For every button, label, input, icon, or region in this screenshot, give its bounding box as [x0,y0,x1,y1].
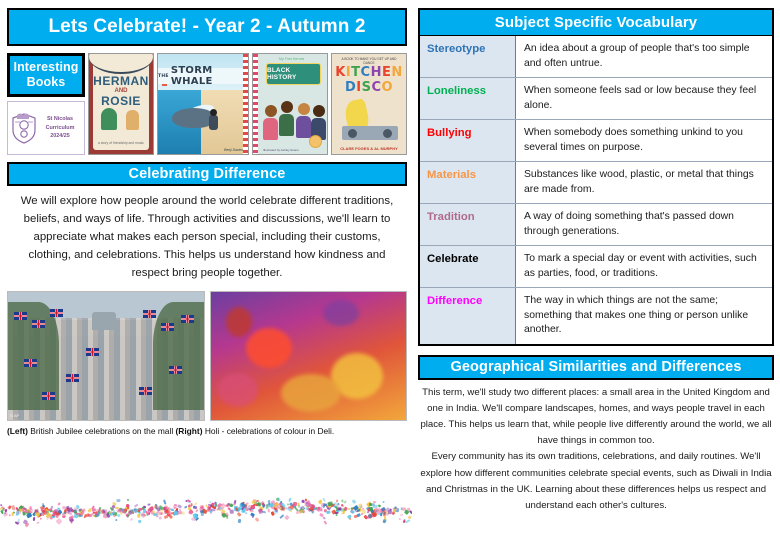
confetti-dot [25,523,30,528]
confetti-dot [384,516,387,521]
confetti-dot [48,508,51,510]
confetti-dot [284,515,290,521]
photo-gallery: © AP [7,291,407,421]
kitchen-disco-tagline: A BOOK TO MAKE YOU GET UP AND DANCE [336,57,402,65]
jubilee-photo-credit: © AP [10,413,19,418]
storm-whale-the: THE [158,74,169,79]
confetti-dot [94,511,97,514]
confetti-dot [40,518,42,520]
confetti-dot [354,515,357,518]
book-cover-herman-and-rosie: gus gordon HERMAN AND ROSIE a story of f… [88,53,154,155]
geography-heading: Geographical Similarities and Difference… [418,355,774,380]
books-label-group: Interesting Books St Nicolas Curriculum [7,53,85,155]
vocabulary-definition: When someone feels sad or low because th… [516,78,772,119]
vocabulary-row: LonelinessWhen someone feels sad or low … [420,77,772,119]
confetti-dot [33,517,35,521]
confetti-dot [201,511,204,516]
logo-line-3: 2024/25 [39,132,81,141]
book-cover-the-storm-whale: THE STORM WHALE Benji Davies [157,53,249,155]
left-column: Lets Celebrate! - Year 2 - Autumn 2 Inte… [7,8,407,436]
confetti-dot [17,521,20,524]
confetti-dot [189,511,192,514]
vocabulary-definition: An idea about a group of people that's t… [516,36,772,77]
storm-whale-title: THE STORM WHALE [158,68,248,84]
kitchen-disco-credits: CLARE FOGES & AL MURPHY [332,146,406,151]
confetti-dot [250,513,255,518]
caption-left-label: (Left) [7,426,28,436]
logo-line-2: Curriculum [39,124,81,133]
boy-illustration [209,115,218,130]
interesting-books-row: Interesting Books St Nicolas Curriculum [7,53,407,155]
caption-right-label: (Right) [176,426,203,436]
geography-paragraph-1: This term, we'll study two different pla… [420,387,771,447]
confetti-dot [265,503,268,508]
holi-festival-photo [210,291,408,421]
storm-whale-author: Benji Davies [224,148,243,152]
vocabulary-term: Materials [420,162,516,203]
confetti-dot [138,520,142,524]
confetti-dot [58,503,61,506]
geography-body: This term, we'll study two different pla… [418,385,774,515]
confetti-dot [26,512,32,518]
confetti-dot [61,513,64,516]
confetti-dot [196,509,199,512]
confetti-dot [255,517,260,522]
storm-whale-main-title: STORM WHALE [171,65,248,87]
school-logo-text: St Nicolas Curriculum 2024/25 [39,115,81,141]
confetti-dot [251,501,256,504]
dj-deck-illustration [342,126,398,140]
vocabulary-definition: A way of doing something that's passed d… [516,204,772,245]
celebrating-difference-heading: Celebrating Difference [7,162,407,186]
vocabulary-term: Stereotype [420,36,516,77]
confetti-dot [48,513,52,517]
vocabulary-row: MaterialsSubstances like wood, plastic, … [420,161,772,203]
confetti-dot [238,519,242,523]
confetti-dot [177,505,182,510]
vocabulary-definition: Substances like wood, plastic, or metal … [516,162,772,203]
confetti-dot [399,518,401,520]
vocabulary-row: DifferenceThe way in which things are no… [420,287,772,344]
black-history-series: My First Heroes [279,57,304,61]
confetti-dot [127,498,130,501]
photo-caption: (Left) British Jubilee celebrations on t… [7,426,407,436]
vocabulary-term: Loneliness [420,78,516,119]
confetti-dot [317,507,322,512]
curriculum-overview-page: Lets Celebrate! - Year 2 - Autumn 2 Inte… [0,0,780,540]
vocabulary-table: Subject Specific Vocabulary StereotypeAn… [418,8,774,346]
vocabulary-definition: When somebody does something unkind to y… [516,120,772,161]
vocabulary-heading: Subject Specific Vocabulary [420,10,772,36]
confetti-dot [116,499,121,502]
vocabulary-rows: StereotypeAn idea about a group of peopl… [420,36,772,344]
confetti-dot [191,517,196,520]
vocabulary-term: Tradition [420,204,516,245]
caption-right-text: Holi - celebrations of colour in Deli. [203,426,335,436]
confetti-dot [408,515,412,519]
vocabulary-term: Difference [420,288,516,344]
children-illustration [261,94,323,140]
herman-subtitle: a story of friendship and music [93,141,149,145]
confetti-dot [85,513,90,517]
confetti-dot [126,513,130,517]
confetti-dot [159,516,163,520]
vocabulary-definition: The way in which things are not the same… [516,288,772,344]
kitchen-disco-title-line2: DISCO [332,80,406,95]
book-cover-kitchen-disco: A BOOK TO MAKE YOU GET UP AND DANCE KITC… [331,53,407,155]
confetti-dot [129,517,133,521]
kitchen-disco-title-line1: KITCHEN [332,65,406,80]
confetti-dot [19,509,22,512]
black-history-credits: Illustrated by Ashley Evans [263,148,323,152]
british-jubilee-photo: © AP [7,291,205,421]
confetti-dot [36,522,40,525]
confetti-decoration [0,494,412,540]
confetti-dot [163,510,165,512]
vocabulary-row: StereotypeAn idea about a group of peopl… [420,36,772,77]
confetti-dot [406,519,411,523]
books-label-line2: Books [27,75,66,90]
confetti-dot [34,508,39,513]
confetti-dot [383,501,385,503]
vocabulary-row: BullyingWhen somebody does something unk… [420,119,772,161]
caption-left-text: British Jubilee celebrations on the mall [28,426,176,436]
vocabulary-term: Bullying [420,120,516,161]
confetti-dot [194,502,197,505]
page-title: Lets Celebrate! - Year 2 - Autumn 2 [7,8,407,46]
school-logo: St Nicolas Curriculum 2024/25 [7,101,85,155]
vocabulary-row: CelebrateTo mark a special day or event … [420,245,772,287]
confetti-dot [323,521,327,525]
vocabulary-term: Celebrate [420,246,516,287]
confetti-dot [409,510,412,514]
confetti-dot [160,512,163,515]
confetti-dot [281,507,286,511]
black-history-title: BLACK HISTORY [267,67,320,81]
vocabulary-definition: To mark a special day or event with acti… [516,246,772,287]
confetti-dot [65,505,69,509]
interesting-books-label: Interesting Books [7,53,85,97]
confetti-dot [251,504,255,508]
book-cover-black-history: My First Heroes BLACK HISTORY Illustrate… [252,53,328,155]
confetti-dot [56,518,63,525]
celebrating-difference-body: We will explore how people around the wo… [7,192,407,282]
geography-paragraph-2: Every community has its own traditions, … [420,449,772,514]
confetti-dot [400,514,404,518]
school-crest-icon [11,112,37,144]
confetti-dot [319,513,324,518]
logo-line-1: St Nicolas [39,115,81,124]
books-label-line1: Interesting [14,60,79,75]
confetti-dot [115,519,117,521]
confetti-dot [323,497,327,502]
confetti-dot [70,520,73,523]
vocabulary-row: TraditionA way of doing something that's… [420,203,772,245]
black-history-title-sign: BLACK HISTORY [266,63,321,85]
herman-characters-illustration [93,104,149,130]
confetti-dot [335,512,339,514]
herman-title-line1: HERMAN [93,74,149,88]
right-column: Subject Specific Vocabulary StereotypeAn… [418,8,774,514]
confetti-dot [164,500,167,505]
